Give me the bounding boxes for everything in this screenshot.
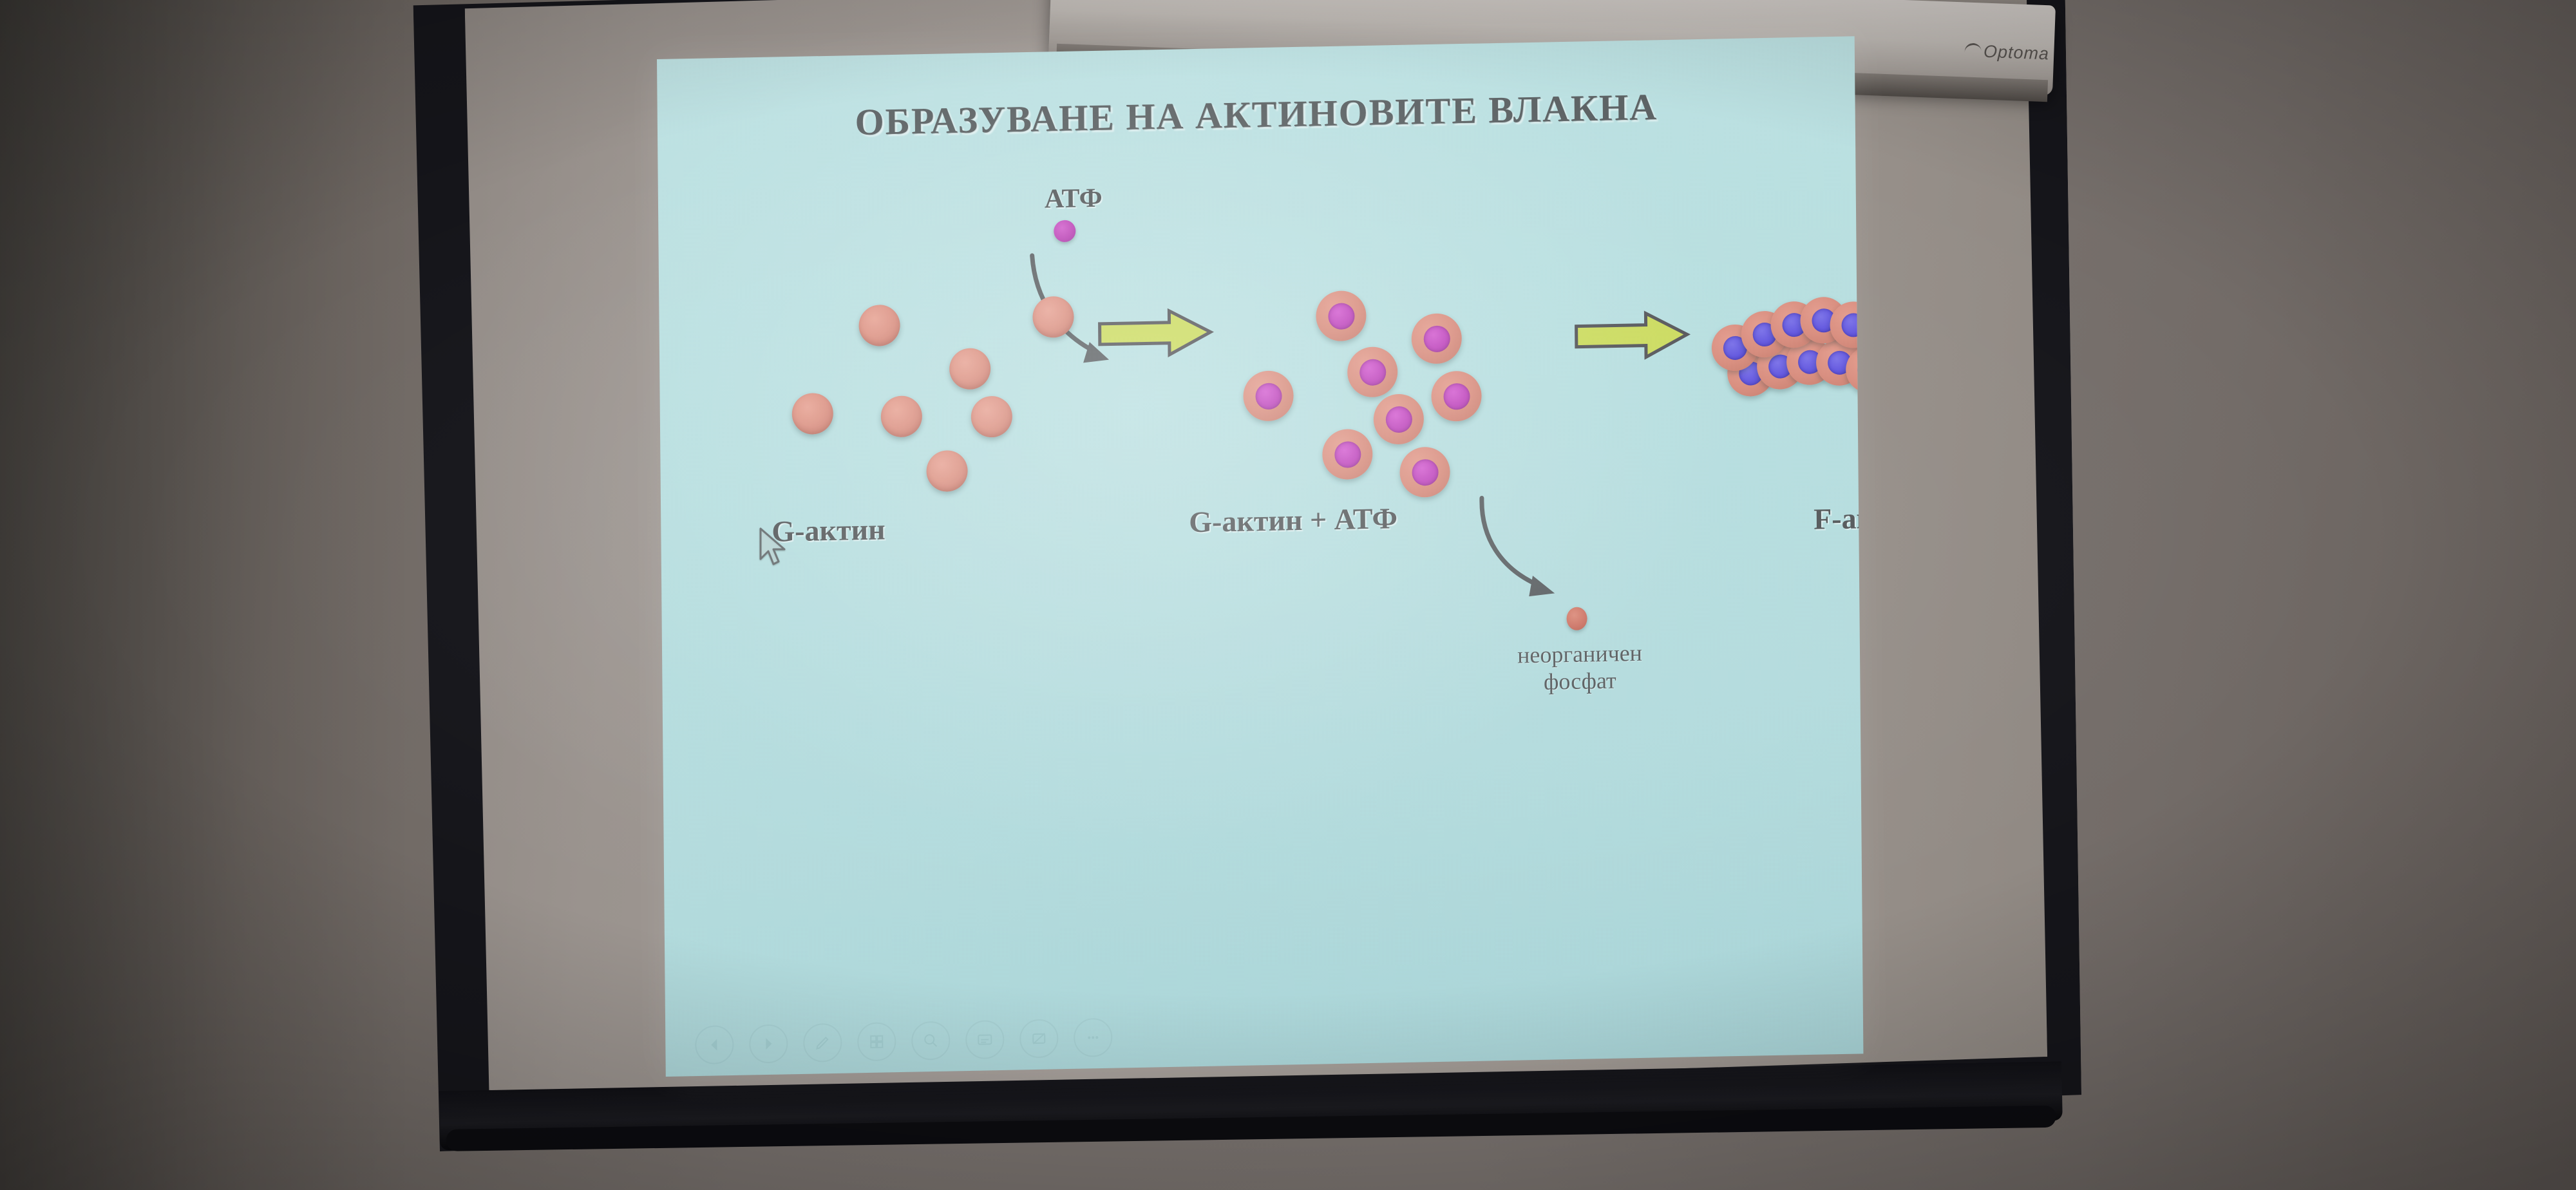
g-actin-monomer [926,450,968,492]
curve-arrow-phosphate-out [1475,492,1618,617]
pen-tool-button[interactable] [803,1023,842,1062]
atp-molecule-dot [1054,220,1075,243]
next-slide-button[interactable] [749,1024,788,1063]
g-actin-atp-label: G-актин + АТФ [1189,501,1397,539]
previous-slide-button[interactable] [695,1025,734,1064]
projected-slide: ОБРАЗУВАНЕ НА АКТИНОВИТЕ ВЛАКНА АТФ G-ак… [657,36,1863,1077]
g-actin-cluster [765,256,1076,513]
subtitles-button[interactable] [965,1020,1005,1059]
g-actin-atp-cluster [1226,256,1498,518]
f-actin-filament [1709,288,1863,424]
black-screen-button[interactable] [1019,1019,1059,1058]
presenter-toolbar[interactable] [695,1018,1112,1064]
all-slides-button[interactable] [857,1022,896,1061]
inorganic-phosphate-label: неорганичен фосфат [1470,638,1690,697]
g-actin-atp-monomer [1347,346,1398,397]
atp-core [1255,382,1282,410]
atp-core [1334,441,1361,468]
f-actin-label: F-актин [1814,500,1863,536]
brand-name: Optoma [1983,42,2049,64]
atp-core [1385,406,1412,433]
inorganic-phosphate-dot [1566,607,1587,630]
g-actin-monomer [858,305,900,346]
g-actin-atp-monomer [1399,446,1450,497]
mouse-cursor [757,527,793,569]
atp-core [1359,359,1386,386]
reaction-arrow-2 [1573,308,1690,362]
phosphate-line-1: неорганичен [1517,640,1642,668]
zoom-in-button[interactable] [911,1021,951,1061]
g-actin-atp-monomer [1411,313,1462,364]
projector-brand-logo: Optoma [1964,41,2049,64]
g-actin-monomer [792,393,834,435]
g-actin-atp-monomer [1374,393,1425,444]
slide-noise [657,36,1863,1077]
atp-core [1423,325,1450,352]
g-actin-atp-monomer [1322,429,1373,480]
screenshot-stage: Optoma ОБРАЗУВАНЕ НА АКТИНОВИТЕ ВЛАКНА А… [0,0,2576,1190]
g-actin-monomer [1032,296,1074,338]
atp-label: АТФ [1045,183,1103,215]
reaction-arrow-1 [1097,306,1213,359]
g-actin-monomer [881,395,923,437]
g-actin-monomer [971,396,1013,438]
atp-core [1328,303,1354,330]
g-actin-monomer [949,348,991,390]
phosphate-line-2: фосфат [1544,668,1616,695]
atp-core [1412,458,1438,486]
g-actin-atp-monomer [1316,290,1367,341]
more-options-button[interactable] [1074,1018,1113,1057]
slide-title: ОБРАЗУВАНЕ НА АКТИНОВИТЕ ВЛАКНА [658,81,1855,147]
slide-glow [657,36,1863,1077]
brand-swoosh-icon [1964,42,1982,55]
g-actin-atp-monomer [1243,370,1294,421]
g-actin-atp-monomer [1431,371,1482,422]
atp-core [1443,382,1470,410]
